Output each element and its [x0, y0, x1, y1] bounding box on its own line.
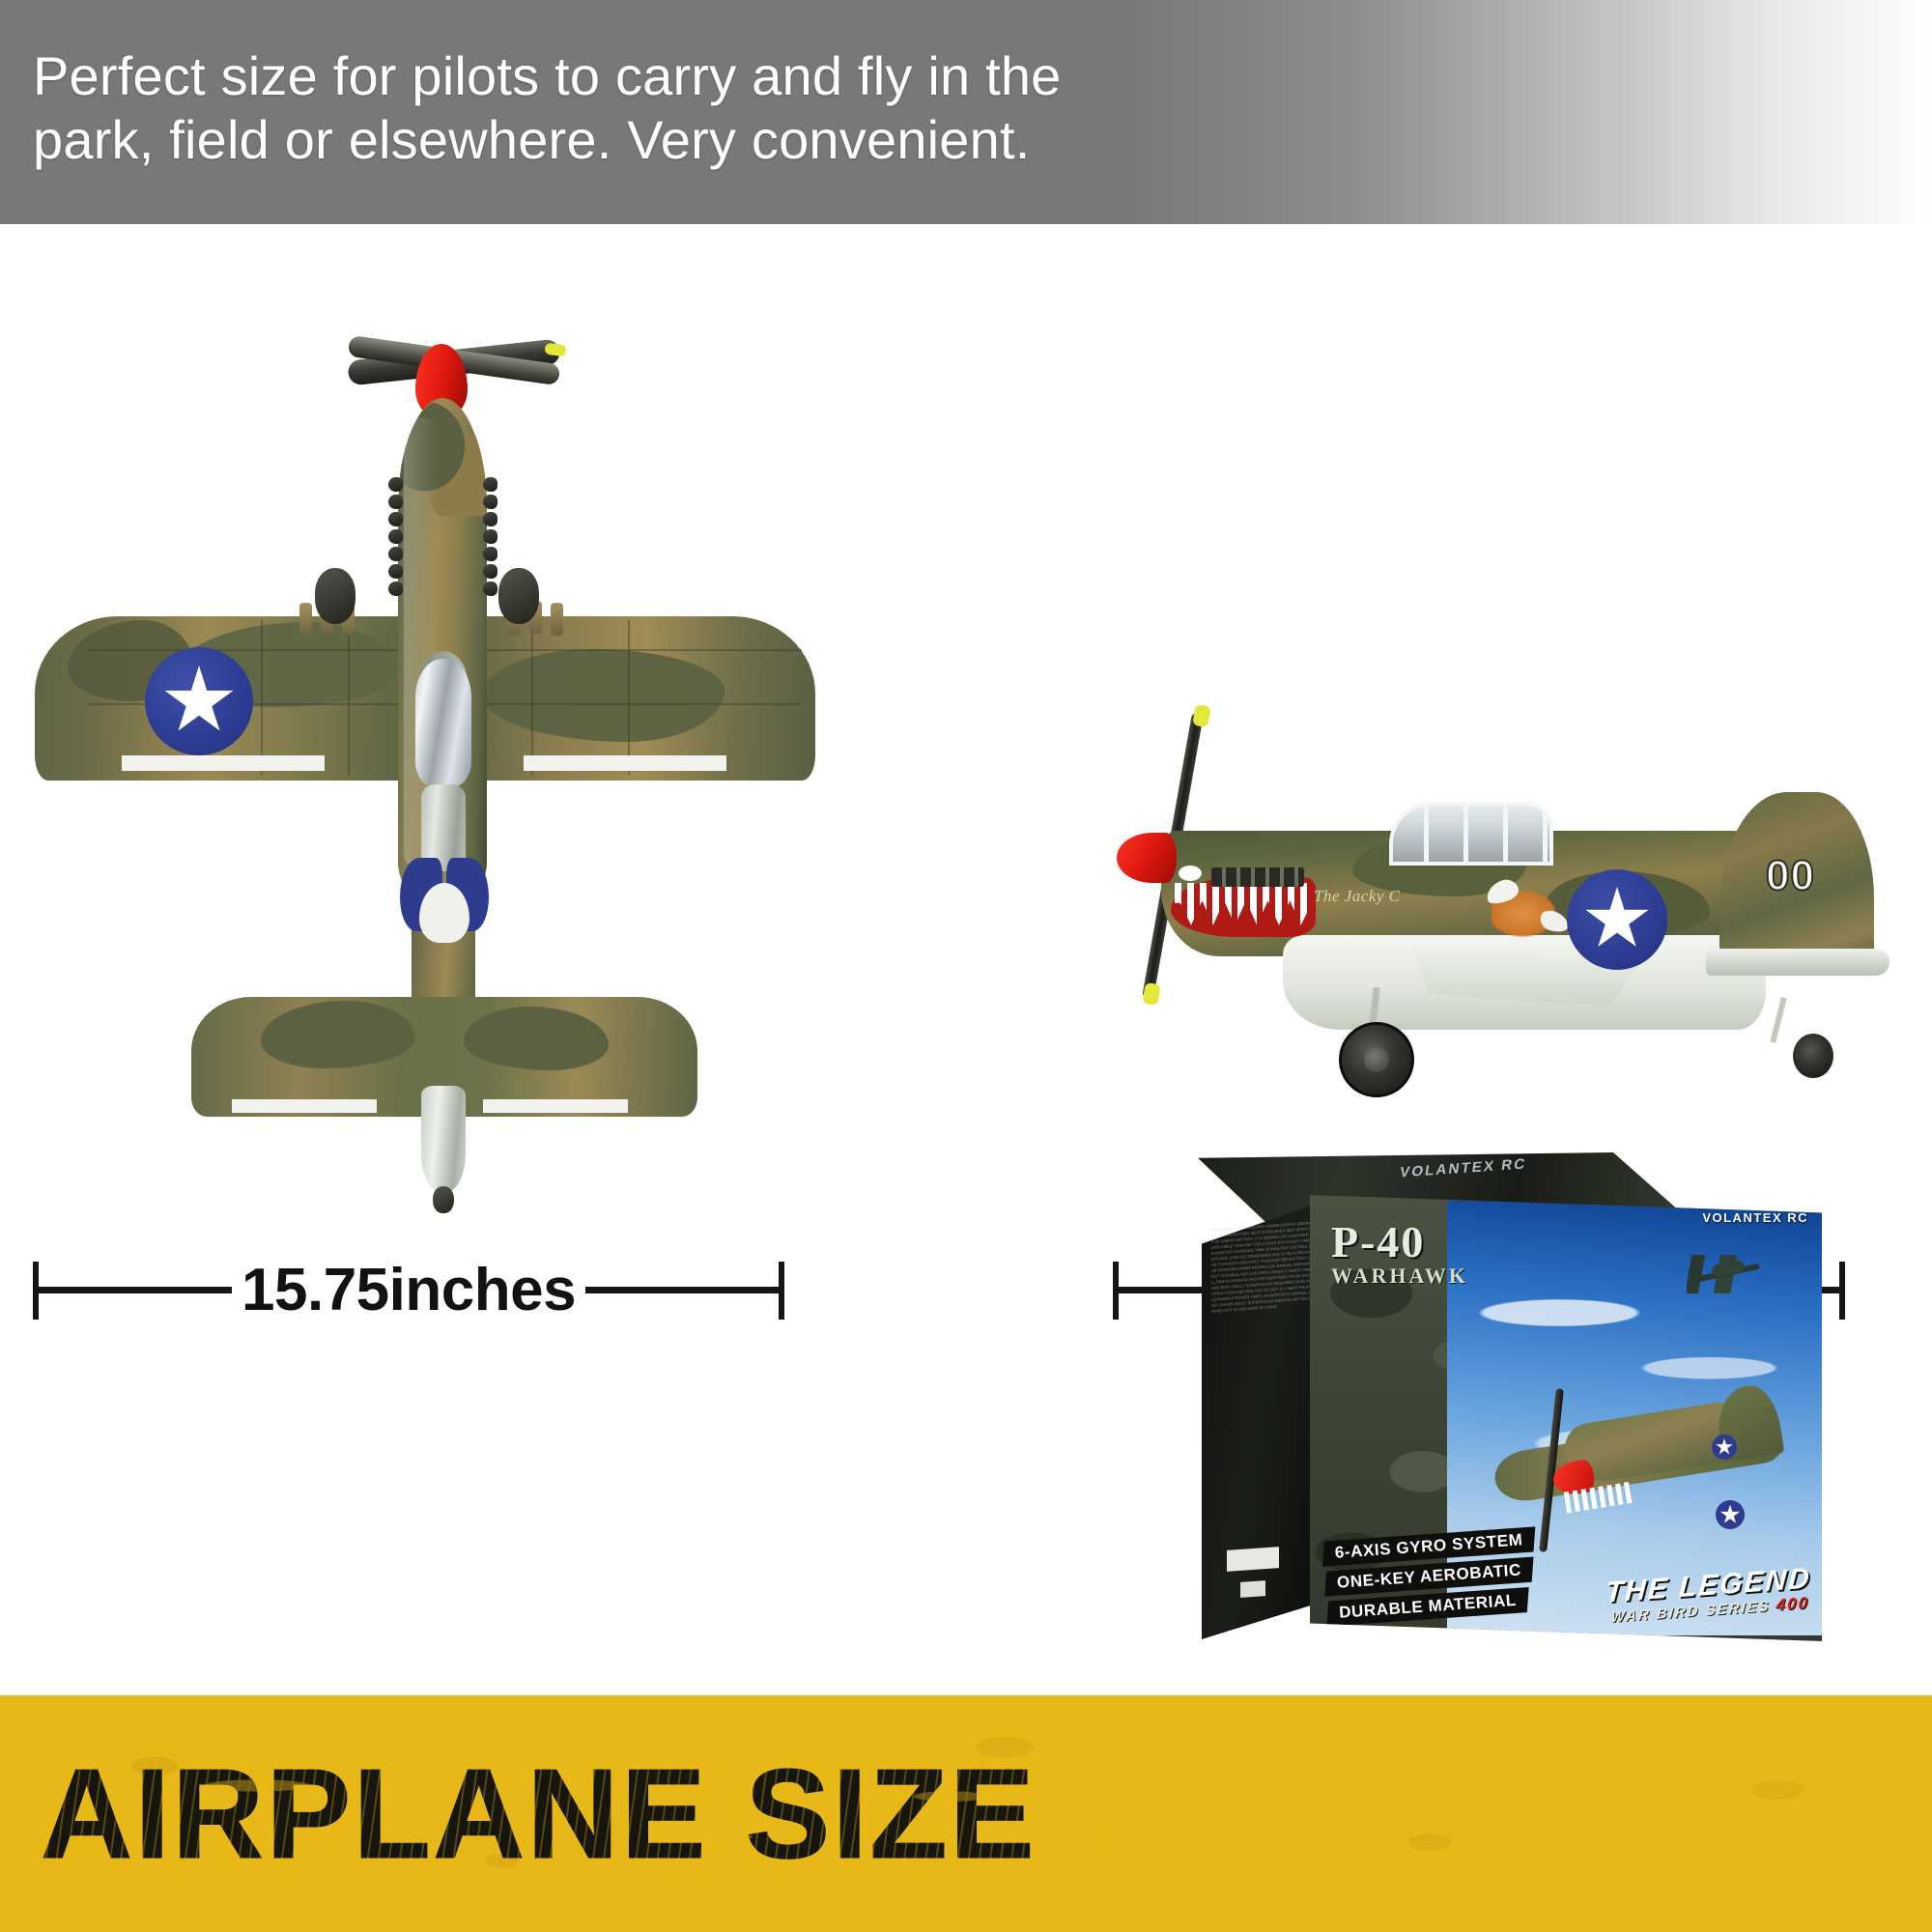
header-caption: Perfect size for pilots to carry and fly…: [33, 44, 1405, 172]
tail-wheel: [433, 1186, 454, 1213]
header-caption-line-1: Perfect size for pilots to carry and fly…: [33, 44, 1405, 108]
cockpit-canopy: [415, 659, 471, 786]
dimension-wingspan: 15.75inches: [33, 1256, 784, 1324]
shark-eye-icon: [1179, 866, 1202, 881]
star-icon: [1716, 1438, 1733, 1456]
box-brand-logo: VOLANTEX RC: [1702, 1210, 1808, 1225]
plane-side-view-image: The Jacky C 00: [1111, 707, 1884, 1113]
propeller-tip-icon: [1192, 704, 1211, 727]
series-number: 400: [1776, 1594, 1810, 1615]
box-model-subtitle: WARHAWK: [1331, 1264, 1468, 1289]
exhaust-stacks-icon: [483, 477, 498, 612]
box-front-panel: P-40 WARHAWK VOLANTEX RC 6-AXIS GYRO SYS…: [1310, 1195, 1822, 1641]
dimension-line: [585, 1287, 779, 1293]
exhaust-stacks-icon: [388, 477, 404, 612]
box-model-title: P-40: [1331, 1216, 1468, 1267]
dimension-end-cap: [779, 1262, 784, 1320]
feature-badge-label: ONE-KEY AEROBATIC: [1336, 1560, 1521, 1592]
barcode-label: [1227, 1547, 1279, 1572]
panel-line: [531, 620, 533, 775]
box-title-block: P-40 WARHAWK: [1331, 1216, 1468, 1289]
dimension-value-wingspan: 15.75inches: [232, 1256, 585, 1324]
wing-flap-marking: [122, 755, 325, 771]
star-icon: [163, 666, 235, 737]
tail-gear-strut: [1770, 997, 1786, 1043]
wing-flap-marking: [524, 755, 726, 771]
panel-line: [348, 620, 350, 775]
tail-wheel: [1793, 1034, 1833, 1078]
feature-badge-label: DURABLE MATERIAL: [1339, 1591, 1518, 1623]
landing-gear-wheel: [315, 568, 355, 624]
tail-number-text: 00: [1766, 852, 1815, 900]
box-feature-badge-list: 6-AXIS GYRO SYSTEM ONE-KEY AEROBATIC DUR…: [1322, 1526, 1540, 1631]
landing-gear-wheel: [498, 568, 539, 624]
hero-plane-roundel: [1716, 1500, 1745, 1529]
hero-plane-roundel: [1712, 1435, 1737, 1460]
canopy-frames: [1389, 802, 1553, 866]
star-icon: [1720, 1505, 1741, 1525]
product-package-box: VOLANTEX RC SPECIFICATIONS WINGSPAN 400M…: [1082, 1145, 1932, 1879]
wing-gun-icon: [551, 603, 563, 636]
dimension-line: [39, 1287, 232, 1293]
horizontal-stabilizer: [1706, 949, 1889, 976]
banner-title-text: AIRPLANE SIZE: [41, 1750, 1037, 1878]
star-icon: [1584, 887, 1650, 952]
header-banner: Perfect size for pilots to carry and fly…: [0, 0, 1932, 224]
elevator-marking: [232, 1099, 377, 1113]
header-caption-line-2: park, field or elsewhere. Very convenien…: [33, 108, 1405, 172]
aircraft-stage: The Jacky C 00: [0, 224, 1932, 1287]
us-star-roundel: [1567, 869, 1667, 970]
certification-mark: [1240, 1580, 1265, 1598]
panel-line: [628, 620, 630, 775]
plane-top-view-image: [29, 330, 821, 987]
panel-line: [261, 620, 263, 775]
exhaust-stacks-icon: [1211, 867, 1304, 887]
us-star-roundel: [145, 647, 253, 755]
wing-gun-icon: [299, 603, 312, 636]
box-side-specification-text: SPECIFICATIONS WINGSPAN 400MM LENGTH 308…: [1207, 1216, 1316, 1637]
propeller-tip-icon: [1142, 982, 1161, 1006]
wheel-hub: [1364, 1047, 1389, 1072]
nose-art-script-text: The Jacky C: [1314, 887, 1401, 906]
product-infographic: Perfect size for pilots to carry and fly…: [0, 0, 1932, 1932]
spinner-nose-cone: [1117, 833, 1177, 883]
vertical-rudder: [421, 1086, 466, 1192]
box-hero-plane-artwork: [1493, 1369, 1783, 1552]
box-background-plane: [1687, 1255, 1764, 1293]
elevator-marking: [483, 1099, 628, 1113]
